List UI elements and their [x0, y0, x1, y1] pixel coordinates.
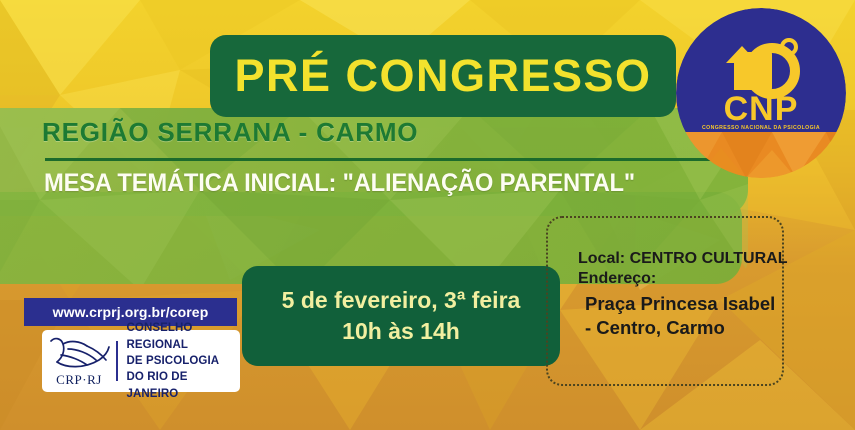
location-district: - Centro, Carmo — [578, 316, 793, 340]
divider-rule — [45, 158, 720, 161]
crp-bird-icon: CRP·RJ — [42, 332, 116, 390]
svg-text:CNP: CNP — [724, 90, 799, 128]
crp-abbreviation: CRP·RJ — [56, 372, 102, 388]
date-box: 5 de fevereiro, 3ª feira 10h às 14h — [242, 266, 560, 366]
region-subtitle: REGIÃO SERRANA - CARMO — [42, 117, 418, 148]
location-text: Local: CENTRO CULTURAL Endereço: Praça P… — [578, 249, 793, 339]
cnp-tagline: CONGRESSO NACIONAL DA PSICOLOGIA — [702, 125, 820, 131]
location-address-label: Endereço: — [578, 269, 793, 289]
cnp-logo: CNP CONGRESSO NACIONAL DA PSICOLOGIA — [676, 8, 846, 178]
crp-line-2: DE PSICOLOGIA — [127, 353, 241, 369]
poster-canvas: PRÉ CONGRESSO REGIÃO SERRANA - CARMO MES… — [0, 0, 855, 430]
crp-line-3: DO RIO DE JANEIRO — [127, 369, 241, 402]
main-title-bar: PRÉ CONGRESSO — [210, 35, 676, 117]
crp-line-1: CONSELHO REGIONAL — [127, 320, 241, 353]
location-venue: Local: CENTRO CULTURAL — [578, 249, 793, 269]
website-url[interactable]: www.crprj.org.br/corep — [53, 304, 209, 320]
page-title: PRÉ CONGRESSO — [234, 50, 651, 102]
theme-line: MESA TEMÁTICA INICIAL: "ALIENAÇÃO PARENT… — [44, 169, 635, 198]
time-line: 10h às 14h — [342, 318, 460, 345]
location-street: Praça Princesa Isabel — [578, 292, 793, 316]
crp-wordmark: CONSELHO REGIONAL DE PSICOLOGIA DO RIO D… — [118, 320, 241, 402]
date-line: 5 de fevereiro, 3ª feira — [282, 287, 521, 314]
crp-rj-logo: CRP·RJ CONSELHO REGIONAL DE PSICOLOGIA D… — [42, 330, 240, 392]
